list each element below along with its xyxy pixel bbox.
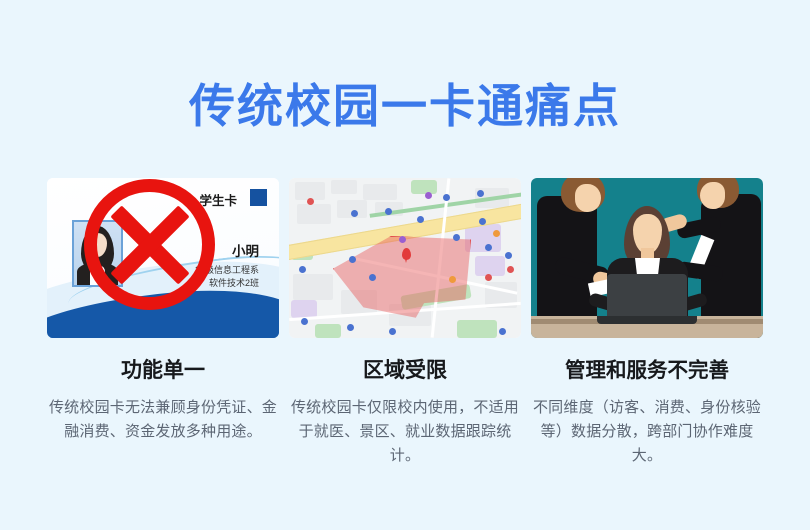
- id-card-graphic: 学生卡 小明 23级信息工程系 软件技术2班: [47, 178, 279, 338]
- student-name: 小明: [232, 240, 259, 260]
- map-poi-marker: [453, 234, 460, 241]
- card-heading: 管理和服务不完善: [531, 358, 763, 384]
- map-poi-marker: [369, 274, 376, 281]
- campus-map-image: [289, 178, 521, 338]
- map-poi-marker: [499, 328, 506, 335]
- map-poi-marker: [485, 274, 492, 281]
- card-body-text: 传统校园卡仅限校内使用，不适用于就医、景区、就业数据跟踪统计。: [289, 396, 521, 468]
- student-department-line-2: 软件技术2班: [195, 277, 259, 290]
- map-poi-marker: [417, 216, 424, 223]
- id-card-logo-square: [250, 189, 267, 206]
- student-id-card-image: 学生卡 小明 23级信息工程系 软件技术2班: [47, 178, 279, 338]
- laptop-screen: [607, 274, 687, 318]
- map-poi-marker: [505, 252, 512, 259]
- map-poi-marker: [347, 324, 354, 331]
- office-illustration: [531, 178, 763, 338]
- map-poi-marker: [485, 244, 492, 251]
- colleague-right-face: [700, 182, 725, 209]
- map-poi-marker: [493, 230, 500, 237]
- map-poi-marker: [389, 328, 396, 335]
- map-pin-icon: [402, 248, 411, 260]
- map-poi-marker: [477, 190, 484, 197]
- map-poi-marker: [425, 192, 432, 199]
- card-heading: 区域受限: [289, 358, 521, 384]
- card-body-text: 传统校园卡无法兼顾身份凭证、金融消费、资金发放多种用途。: [47, 396, 279, 444]
- student-department-line-1: 23级信息工程系: [195, 264, 259, 277]
- card-heading: 功能单一: [47, 358, 279, 384]
- map-poi-marker: [507, 266, 514, 273]
- pain-point-card-0: 学生卡 小明 23级信息工程系 软件技术2班: [47, 178, 279, 444]
- page-title: 传统校园一卡通痛点: [0, 78, 810, 134]
- map-poi-marker: [399, 236, 406, 243]
- colleague-left-face: [575, 184, 601, 212]
- student-department: 23级信息工程系 软件技术2班: [195, 264, 259, 290]
- map-block: [297, 204, 331, 224]
- map-block: [363, 184, 397, 200]
- laptop-base: [597, 316, 697, 324]
- map-poi-marker: [349, 256, 356, 263]
- map-green-area: [457, 320, 497, 338]
- map-poi-marker: [351, 210, 358, 217]
- id-card-label: 学生卡: [199, 190, 237, 209]
- photo-collar: [90, 266, 105, 285]
- map-purple-area: [475, 256, 505, 276]
- student-photo: [72, 220, 123, 287]
- map-poi-marker: [449, 276, 456, 283]
- pain-point-card-1: 区域受限 传统校园卡仅限校内使用，不适用于就医、景区、就业数据跟踪统计。: [289, 178, 521, 468]
- map-poi-marker: [385, 208, 392, 215]
- card-body-text: 不同维度（访客、消费、身份核验等）数据分散，跨部门协作难度大。: [531, 396, 763, 468]
- map-block: [293, 274, 333, 300]
- map-graphic: [289, 178, 521, 338]
- map-poi-marker: [307, 198, 314, 205]
- map-poi-marker: [443, 194, 450, 201]
- pain-point-card-2: 管理和服务不完善 不同维度（访客、消费、身份核验等）数据分散，跨部门协作难度大。: [531, 178, 763, 468]
- map-green-area: [411, 180, 437, 194]
- pain-point-columns: 学生卡 小明 23级信息工程系 软件技术2班: [0, 178, 810, 508]
- map-block: [331, 180, 357, 194]
- map-purple-area: [291, 300, 317, 318]
- map-poi-marker: [299, 266, 306, 273]
- map-purple-area: [465, 224, 501, 252]
- office-staff-overwhelmed-image: [531, 178, 763, 338]
- map-green-area: [315, 324, 341, 338]
- map-poi-marker: [479, 218, 486, 225]
- map-poi-marker: [301, 318, 308, 325]
